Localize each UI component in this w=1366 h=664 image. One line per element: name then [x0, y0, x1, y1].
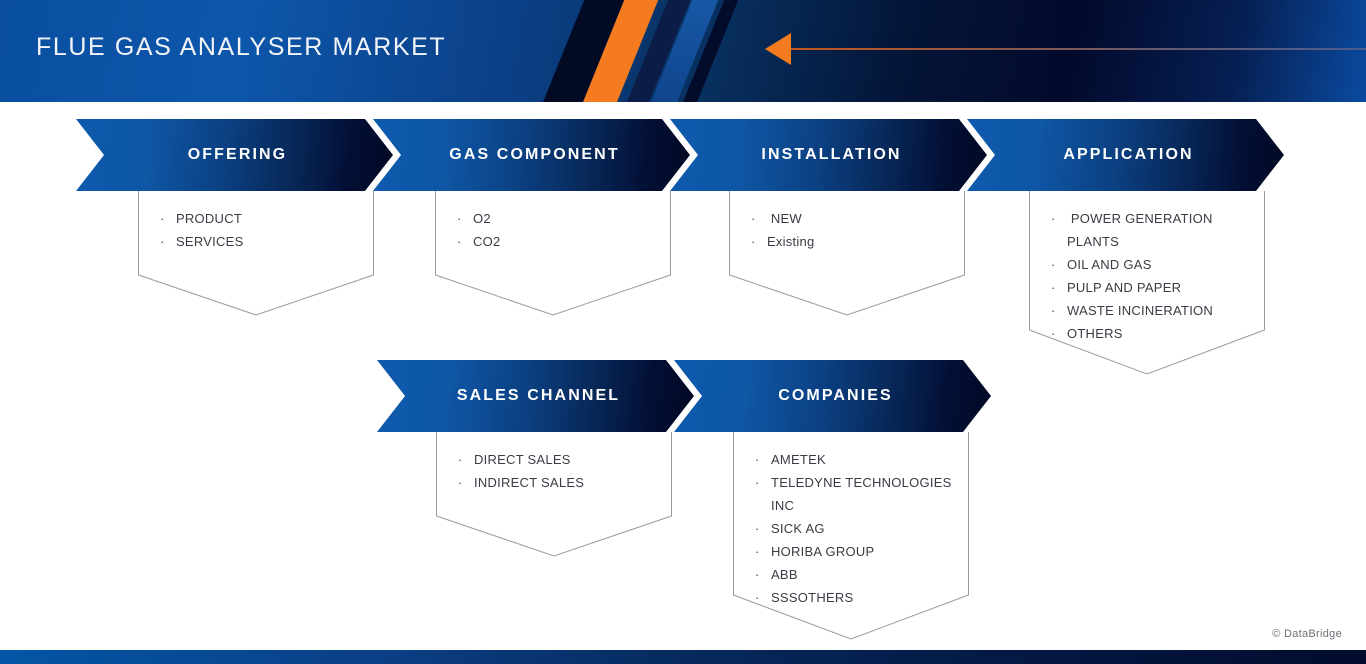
list-item[interactable]: ·INDIRECT SALES: [458, 471, 658, 494]
segment-title-offering: OFFERING: [182, 146, 287, 164]
segment-title-gas-component: GAS COMPONENT: [443, 146, 619, 164]
list-item[interactable]: ·ABB: [755, 563, 955, 586]
list-item[interactable]: ·PULP AND PAPER: [1051, 276, 1251, 299]
bullet-icon: ·: [1051, 276, 1067, 299]
list-item[interactable]: ·OTHERS: [1051, 322, 1251, 345]
list-item[interactable]: ·AMETEK: [755, 448, 955, 471]
list-item-label: HORIBA GROUP: [771, 540, 874, 563]
page-header: FLUE GAS ANALYSER MARKET: [0, 0, 1366, 102]
list-item-label: ABB: [771, 563, 798, 586]
segment-offering: OFFERING·PRODUCT·SERVICES: [76, 119, 393, 315]
bullet-icon: ·: [458, 448, 474, 471]
bullet-icon: ·: [755, 517, 771, 540]
segment-banner-companies[interactable]: COMPANIES: [674, 360, 991, 432]
segment-title-companies: COMPANIES: [772, 387, 893, 405]
bullet-icon: ·: [755, 471, 771, 494]
segment-installation: INSTALLATION· NEW·Existing: [670, 119, 987, 315]
footer-bar: [0, 650, 1366, 664]
bullet-icon: ·: [1051, 207, 1067, 230]
segment-list-application: · POWER GENERATION PLANTS·OIL AND GAS·PU…: [1029, 191, 1265, 345]
bullet-icon: ·: [755, 540, 771, 563]
segment-sales-channel: SALES CHANNEL·DIRECT SALES·INDIRECT SALE…: [377, 360, 694, 556]
list-item-label: OTHERS: [1067, 322, 1123, 345]
list-item[interactable]: ·SERVICES: [160, 230, 360, 253]
segment-list-installation: · NEW·Existing: [729, 191, 965, 253]
segment-banner-offering[interactable]: OFFERING: [76, 119, 393, 191]
list-item[interactable]: ·Existing: [751, 230, 951, 253]
list-item-label: NEW: [767, 207, 802, 230]
list-item[interactable]: ·OIL AND GAS: [1051, 253, 1251, 276]
list-item-label: INDIRECT SALES: [474, 471, 584, 494]
segment-banner-gas-component[interactable]: GAS COMPONENT: [373, 119, 690, 191]
list-item[interactable]: ·SICK AG: [755, 517, 955, 540]
list-item[interactable]: ·HORIBA GROUP: [755, 540, 955, 563]
list-item[interactable]: ·TELEDYNE TECHNOLOGIES INC: [755, 471, 955, 517]
bullet-icon: ·: [751, 230, 767, 253]
segment-body-gas-component: ·O2·CO2: [435, 191, 671, 315]
list-item-label: PRODUCT: [176, 207, 242, 230]
list-item[interactable]: ·O2: [457, 207, 657, 230]
segment-title-sales-channel: SALES CHANNEL: [451, 387, 620, 405]
bullet-icon: ·: [755, 563, 771, 586]
list-item-label: TELEDYNE TECHNOLOGIES INC: [771, 471, 955, 517]
segment-list-offering: ·PRODUCT·SERVICES: [138, 191, 374, 253]
copyright-text: © DataBridge: [1272, 628, 1342, 640]
segment-gas-component: GAS COMPONENT·O2·CO2: [373, 119, 690, 315]
segment-list-companies: ·AMETEK·TELEDYNE TECHNOLOGIES INC·SICK A…: [733, 432, 969, 609]
segment-body-application: · POWER GENERATION PLANTS·OIL AND GAS·PU…: [1029, 191, 1265, 374]
segment-companies: COMPANIES·AMETEK·TELEDYNE TECHNOLOGIES I…: [674, 360, 991, 639]
list-item-label: POWER GENERATION PLANTS: [1067, 207, 1251, 253]
bullet-icon: ·: [1051, 299, 1067, 322]
list-item-label: PULP AND PAPER: [1067, 276, 1181, 299]
bullet-icon: ·: [755, 586, 771, 609]
list-item-label: WASTE INCINERATION: [1067, 299, 1213, 322]
segment-title-application: APPLICATION: [1057, 146, 1193, 164]
list-item-label: Existing: [767, 230, 815, 253]
bullet-icon: ·: [458, 471, 474, 494]
list-item[interactable]: · NEW: [751, 207, 951, 230]
bullet-icon: ·: [1051, 253, 1067, 276]
list-item[interactable]: ·DIRECT SALES: [458, 448, 658, 471]
left-arrow-icon: [765, 33, 791, 65]
arrow-rule-line: [791, 48, 1366, 50]
segment-list-gas-component: ·O2·CO2: [435, 191, 671, 253]
bullet-icon: ·: [457, 230, 473, 253]
list-item[interactable]: ·PRODUCT: [160, 207, 360, 230]
segment-banner-installation[interactable]: INSTALLATION: [670, 119, 987, 191]
list-item-label: CO2: [473, 230, 500, 253]
segment-body-companies: ·AMETEK·TELEDYNE TECHNOLOGIES INC·SICK A…: [733, 432, 969, 639]
bullet-icon: ·: [751, 207, 767, 230]
list-item[interactable]: ·CO2: [457, 230, 657, 253]
list-item[interactable]: · POWER GENERATION PLANTS: [1051, 207, 1251, 253]
list-item-label: SICK AG: [771, 517, 825, 540]
page-title: FLUE GAS ANALYSER MARKET: [36, 33, 446, 62]
list-item[interactable]: ·WASTE INCINERATION: [1051, 299, 1251, 322]
bullet-icon: ·: [755, 448, 771, 471]
segment-body-installation: · NEW·Existing: [729, 191, 965, 315]
segment-title-installation: INSTALLATION: [755, 146, 901, 164]
list-item-label: DIRECT SALES: [474, 448, 571, 471]
segment-banner-application[interactable]: APPLICATION: [967, 119, 1284, 191]
bullet-icon: ·: [1051, 322, 1067, 345]
list-item-label: OIL AND GAS: [1067, 253, 1152, 276]
segment-body-sales-channel: ·DIRECT SALES·INDIRECT SALES: [436, 432, 672, 556]
bullet-icon: ·: [160, 207, 176, 230]
list-item-label: SERVICES: [176, 230, 244, 253]
bullet-icon: ·: [457, 207, 473, 230]
segment-list-sales-channel: ·DIRECT SALES·INDIRECT SALES: [436, 432, 672, 494]
list-item-label: SSSOTHERS: [771, 586, 853, 609]
segment-body-offering: ·PRODUCT·SERVICES: [138, 191, 374, 315]
segment-banner-sales-channel[interactable]: SALES CHANNEL: [377, 360, 694, 432]
segment-application: APPLICATION· POWER GENERATION PLANTS·OIL…: [967, 119, 1284, 374]
bullet-icon: ·: [160, 230, 176, 253]
list-item[interactable]: ·SSSOTHERS: [755, 586, 955, 609]
list-item-label: O2: [473, 207, 491, 230]
list-item-label: AMETEK: [771, 448, 826, 471]
